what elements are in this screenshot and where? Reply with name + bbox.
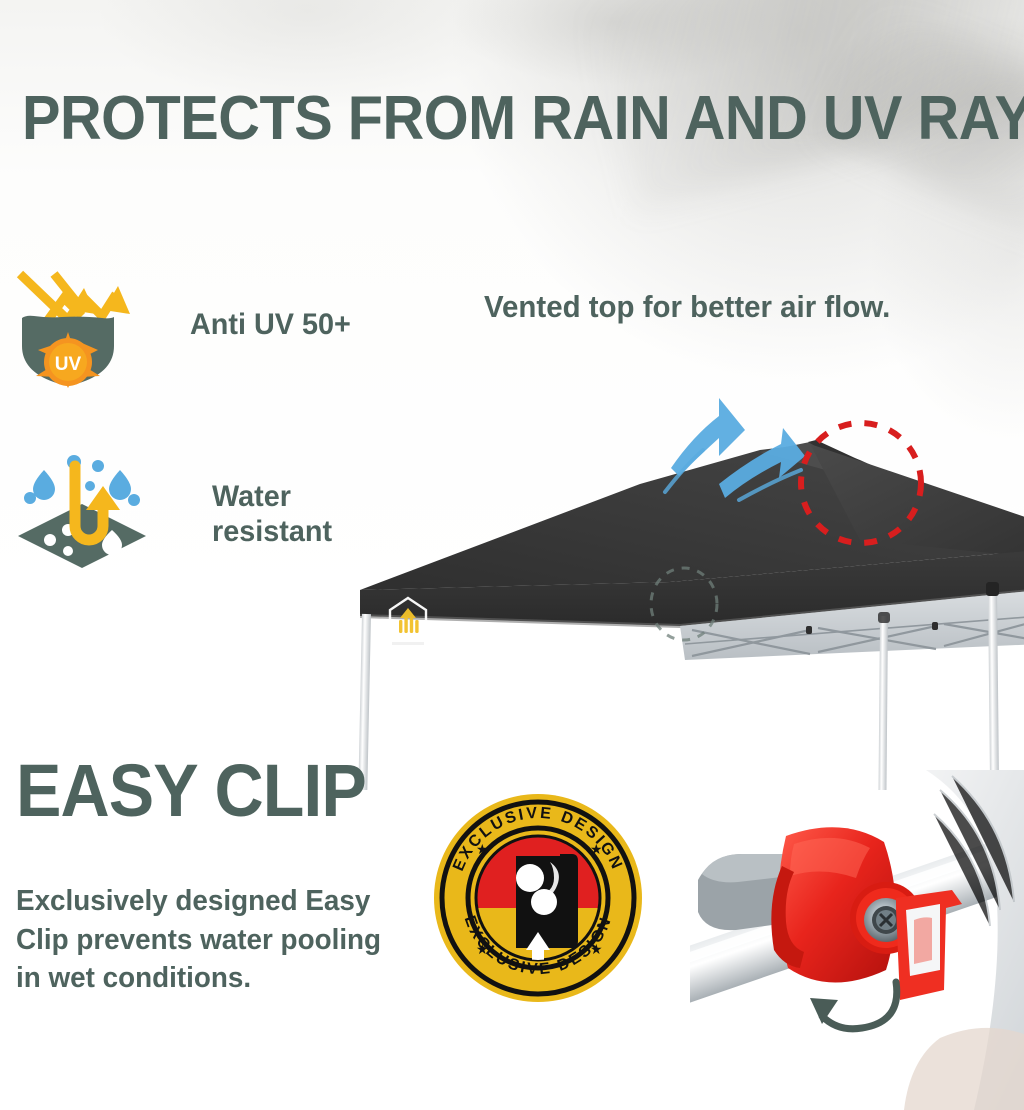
water-label-line1: Water — [212, 480, 291, 513]
badge-star-1: ★ — [476, 841, 489, 857]
badge-star-4: ★ — [590, 941, 603, 957]
vented-top-callout: Vented top for better air flow. — [484, 291, 890, 322]
feature-water-resistant: Water resistant — [12, 452, 337, 577]
uv-shield-icon: UV — [12, 258, 132, 393]
vent-highlight-circle — [796, 418, 926, 548]
easy-clip-title: EASY CLIP — [16, 754, 366, 828]
badge-star-3: ★ — [476, 941, 489, 957]
clip-pointer-arrow-icon — [800, 960, 910, 1050]
secondary-highlight-circle — [645, 565, 723, 643]
feature-anti-uv-label: Anti UV 50+ — [190, 308, 351, 343]
water-repellent-icon — [12, 452, 152, 577]
easy-clip-body: Exclusively designed Easy Clip prevents … — [16, 882, 390, 998]
feature-anti-uv: UV Anti UV 50+ — [12, 258, 358, 393]
product-clip-image — [690, 770, 1024, 1110]
feature-water-resistant-label: Water resistant — [212, 480, 332, 549]
page-title: PROTECTS FROM RAIN AND UV RAYS — [22, 88, 1024, 150]
marketing-image: PROTECTS FROM RAIN AND UV RAYS — [0, 0, 1024, 1110]
water-label-line2: resistant — [212, 515, 332, 548]
svg-text:UV: UV — [55, 354, 82, 375]
exclusive-design-badge: EXCLUSIVE DESIGN EXCLUSIVE DESIGN ★ ★ ★ … — [432, 792, 644, 1004]
badge-star-2: ★ — [590, 841, 603, 857]
